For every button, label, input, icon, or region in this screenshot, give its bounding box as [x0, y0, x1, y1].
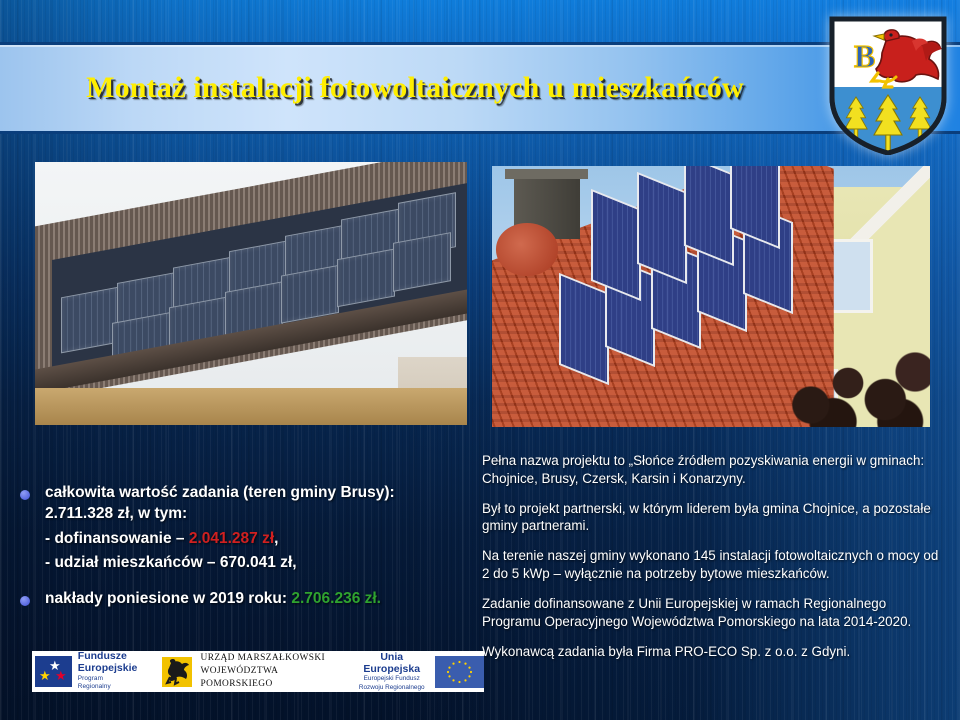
- bullet-dot-icon: [20, 490, 30, 500]
- fundusze-line-3: Program Regionalny: [78, 675, 138, 692]
- page-title: Montaż instalacji fotowoltaicznych u mie…: [86, 71, 874, 105]
- list-item: całkowita wartość zadania (teren gminy B…: [14, 482, 464, 574]
- coat-of-arms-brusy-icon: B: [826, 15, 950, 155]
- photo-tree: [781, 317, 930, 427]
- photo-wooden-beams: [35, 388, 467, 425]
- bullet-text: całkowita wartość zadania (teren gminy B…: [45, 482, 395, 574]
- urzad-line-2: WOJEWÓDZTWA POMORSKIEGO: [201, 665, 333, 690]
- urzad-marszalkowski-text: URZĄD MARSZAŁKOWSKI WOJEWÓDZTWA POMORSKI…: [201, 652, 333, 690]
- urzad-line-1: URZĄD MARSZAŁKOWSKI: [201, 652, 333, 665]
- unia-line-2: Europejski Fundusz: [358, 675, 425, 683]
- fundusze-europejskie-flag-icon: ★ ★ ★: [35, 656, 72, 687]
- funding-logo-bar: ★ ★ ★ Fundusze Europejskie Program Regio…: [32, 651, 484, 692]
- bullet-1-line-2: 2.711.328 zł, w tym:: [45, 505, 187, 522]
- bullet-list: całkowita wartość zadania (teren gminy B…: [14, 482, 464, 609]
- bullet-text: nakłady poniesione w 2019 roku: 2.706.23…: [45, 588, 381, 609]
- description-text-block: Pełna nazwa projektu to „Słońce źródłem …: [482, 452, 944, 660]
- eu-flag-icon: [435, 656, 484, 688]
- paragraph-installations: Na terenie naszej gminy wykonano 145 ins…: [482, 547, 944, 583]
- paragraph-contractor: Wykonawcą zadania była Firma PRO-ECO Sp.…: [482, 643, 944, 661]
- fundusze-line-2: Europejskie: [78, 663, 138, 675]
- bullet-1-sub-2: - udział mieszkańców – 670.041 zł,: [45, 552, 395, 573]
- photo-solar-panels-tile-roof: [492, 166, 930, 427]
- bullet-2-label: nakłady poniesione w 2019 roku:: [45, 590, 291, 607]
- bullet-1-sub-1-label: - dofinansowanie –: [45, 530, 189, 547]
- title-banner: Montaż instalacji fotowoltaicznych u mie…: [0, 42, 960, 134]
- photo-chimney-cap: [505, 169, 588, 179]
- bullet-dot-icon: [20, 596, 30, 606]
- bullet-spacer: [14, 574, 464, 588]
- bullet-1-line-1: całkowita wartość zadania (teren gminy B…: [45, 484, 395, 501]
- photo-satellite-dish: [496, 223, 557, 275]
- paragraph-eu-funding: Zadanie dofinansowane z Unii Europejskie…: [482, 595, 944, 631]
- list-item: nakłady poniesione w 2019 roku: 2.706.23…: [14, 588, 464, 609]
- bullet-2-amount: 2.706.236 zł.: [291, 590, 381, 607]
- pomorskie-griffin-icon: [162, 657, 192, 687]
- fundusze-europejskie-text: Fundusze Europejskie Program Regionalny: [78, 651, 138, 691]
- crest-letter: B: [854, 38, 875, 74]
- bullet-1-sub-1-amount: 2.041.287 zł: [189, 530, 274, 547]
- paragraph-partnership: Był to projekt partnerski, w którym lide…: [482, 500, 944, 536]
- photo-solar-panels-metal-roof: [35, 162, 467, 425]
- bullet-1-sub-1-suffix: ,: [274, 530, 278, 547]
- bullet-1-sub-1: - dofinansowanie – 2.041.287 zł,: [45, 528, 395, 549]
- unia-europejska-text: Unia Europejska Europejski Fundusz Rozwo…: [358, 651, 425, 692]
- presentation-slide: Montaż instalacji fotowoltaicznych u mie…: [0, 0, 960, 720]
- logo-urzad-marszalkowski: URZĄD MARSZAŁKOWSKI WOJEWÓDZTWA POMORSKI…: [138, 651, 333, 692]
- unia-line-3: Rozwoju Regionalnego: [358, 684, 425, 692]
- logo-fundusze-europejskie: ★ ★ ★ Fundusze Europejskie Program Regio…: [32, 651, 138, 692]
- unia-line-1: Unia Europejska: [358, 651, 425, 675]
- paragraph-project-name: Pełna nazwa projektu to „Słońce źródłem …: [482, 452, 944, 488]
- logo-unia-europejska: Unia Europejska Europejski Fundusz Rozwo…: [332, 651, 484, 692]
